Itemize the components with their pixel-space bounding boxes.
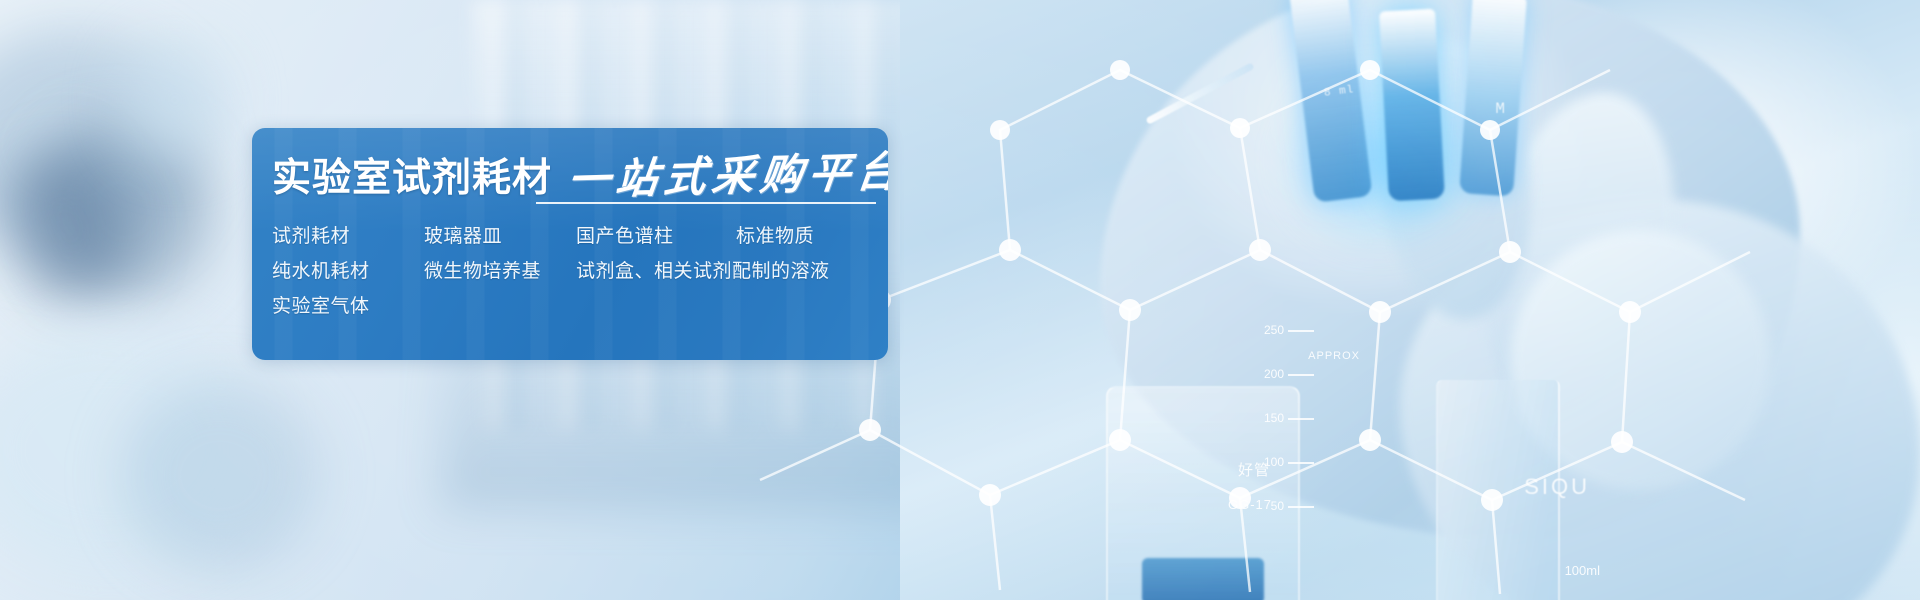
category-link-list: 试剂耗材 玻璃器皿 国产色谱柱 标准物质 纯水机耗材 微生物培养基 试剂盒、相关… bbox=[272, 226, 888, 318]
category-row: 实验室气体 bbox=[272, 296, 888, 318]
category-row: 纯水机耗材 微生物培养基 试剂盒、相关试剂配制的溶液 bbox=[272, 261, 888, 283]
promo-panel: 实验室试剂耗材 一站式采购平台 试剂耗材 玻璃器皿 国产色谱柱 标准物质 纯水机… bbox=[252, 128, 888, 360]
title-underline bbox=[536, 202, 876, 204]
category-link-laboratory-gases[interactable]: 实验室气体 bbox=[272, 296, 424, 318]
category-link-reagent-consumables[interactable]: 试剂耗材 bbox=[272, 226, 424, 248]
category-link-glassware[interactable]: 玻璃器皿 bbox=[424, 226, 576, 248]
category-link-standard-substances[interactable]: 标准物质 bbox=[736, 226, 814, 248]
banner-title: 实验室试剂耗材 一站式采购平台 bbox=[272, 156, 888, 198]
category-row: 试剂耗材 玻璃器皿 国产色谱柱 标准物质 bbox=[272, 226, 888, 248]
category-link-domestic-chromatography-column[interactable]: 国产色谱柱 bbox=[576, 226, 736, 248]
category-link-water-purifier-consumables[interactable]: 纯水机耗材 bbox=[272, 261, 424, 283]
category-link-microbial-media[interactable]: 微生物培养基 bbox=[424, 261, 576, 283]
hero-banner: 8 ml M 好管 GG-17 APPROX 250 200 150 100 5… bbox=[0, 0, 1920, 600]
title-brush-text: 一站式采购平台 bbox=[565, 152, 888, 203]
category-link-reagent-kits-solutions[interactable]: 试剂盒、相关试剂配制的溶液 bbox=[576, 261, 830, 283]
title-main-text: 实验室试剂耗材 bbox=[272, 159, 552, 198]
